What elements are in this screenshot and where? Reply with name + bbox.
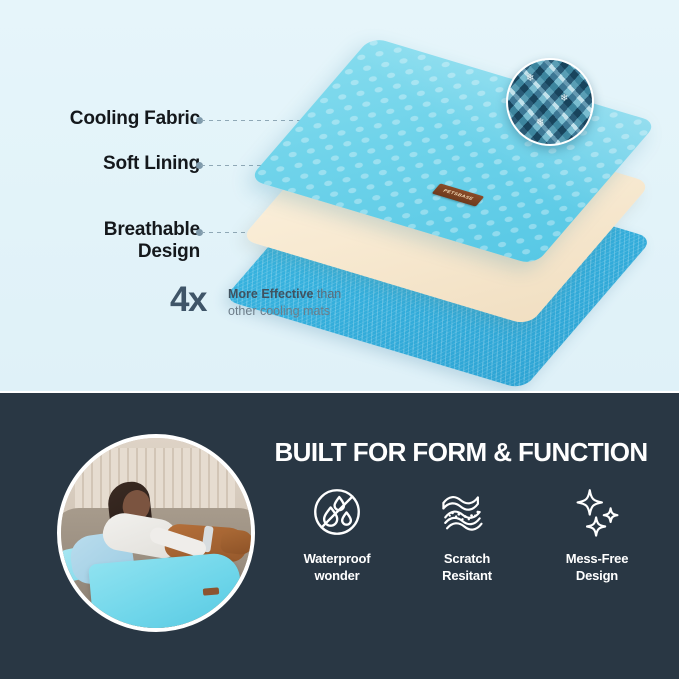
section-headline: BUILT FOR FORM & FUNCTION xyxy=(256,437,666,468)
scratch-resistant-wave-icon xyxy=(438,483,496,541)
layers-section: Cooling Fabric Soft Lining Breathable De… xyxy=(0,0,679,391)
stat-line1: More Effective than xyxy=(228,286,428,303)
stat-line1-bold: More Effective xyxy=(228,287,313,301)
feature-waterproof: Waterproof wonder xyxy=(272,483,402,593)
callout-label-breathable-line1: Breathable xyxy=(0,219,200,241)
features-section: BUILT FOR FORM & FUNCTION Waterproof won… xyxy=(0,393,679,679)
lifestyle-photo xyxy=(57,434,255,632)
snowflake-icon: ❄ xyxy=(536,118,544,128)
callout-label-breathable-line2: Design xyxy=(0,241,200,263)
feature-scratch-resistant: Scratch Resitant xyxy=(402,483,532,593)
feature-caption-line2: Resitant xyxy=(442,568,492,585)
stat-multiplier: 4x xyxy=(170,280,206,320)
waterproof-droplet-icon xyxy=(308,483,366,541)
feature-caption-line2: wonder xyxy=(304,568,371,585)
snowflake-icon: ❄ xyxy=(526,74,534,84)
mess-free-sparkle-icon xyxy=(568,483,626,541)
feature-caption-scratch: Scratch Resitant xyxy=(442,551,492,584)
feature-mess-free: Mess-Free Design xyxy=(532,483,662,593)
feature-list: Waterproof wonder xyxy=(272,483,662,593)
feature-caption-waterproof: Waterproof wonder xyxy=(304,551,371,584)
stat-line2: other cooling mats xyxy=(228,303,428,320)
callout-label-soft-lining: Soft Lining xyxy=(0,153,200,175)
callout-label-cooling-fabric: Cooling Fabric xyxy=(0,108,200,130)
stat-line1-rest: than xyxy=(313,287,341,301)
fabric-weave-closeup: ❄ ❄ ❄ xyxy=(506,58,594,146)
stat-description: More Effective than other cooling mats xyxy=(228,286,428,321)
feature-caption-line2: Design xyxy=(566,568,629,585)
feature-caption-mess-free: Mess-Free Design xyxy=(566,551,629,584)
callout-labels: Cooling Fabric Soft Lining Breathable De… xyxy=(0,0,200,391)
feature-caption-line1: Scratch xyxy=(442,551,492,568)
effectiveness-stat: 4x More Effective than other cooling mat… xyxy=(170,283,430,331)
product-infographic: Cooling Fabric Soft Lining Breathable De… xyxy=(0,0,679,679)
feature-caption-line1: Waterproof xyxy=(304,551,371,568)
feature-caption-line1: Mess-Free xyxy=(566,551,629,568)
snowflake-icon: ❄ xyxy=(560,94,568,104)
callout-label-breathable-design: Breathable Design xyxy=(0,219,200,264)
